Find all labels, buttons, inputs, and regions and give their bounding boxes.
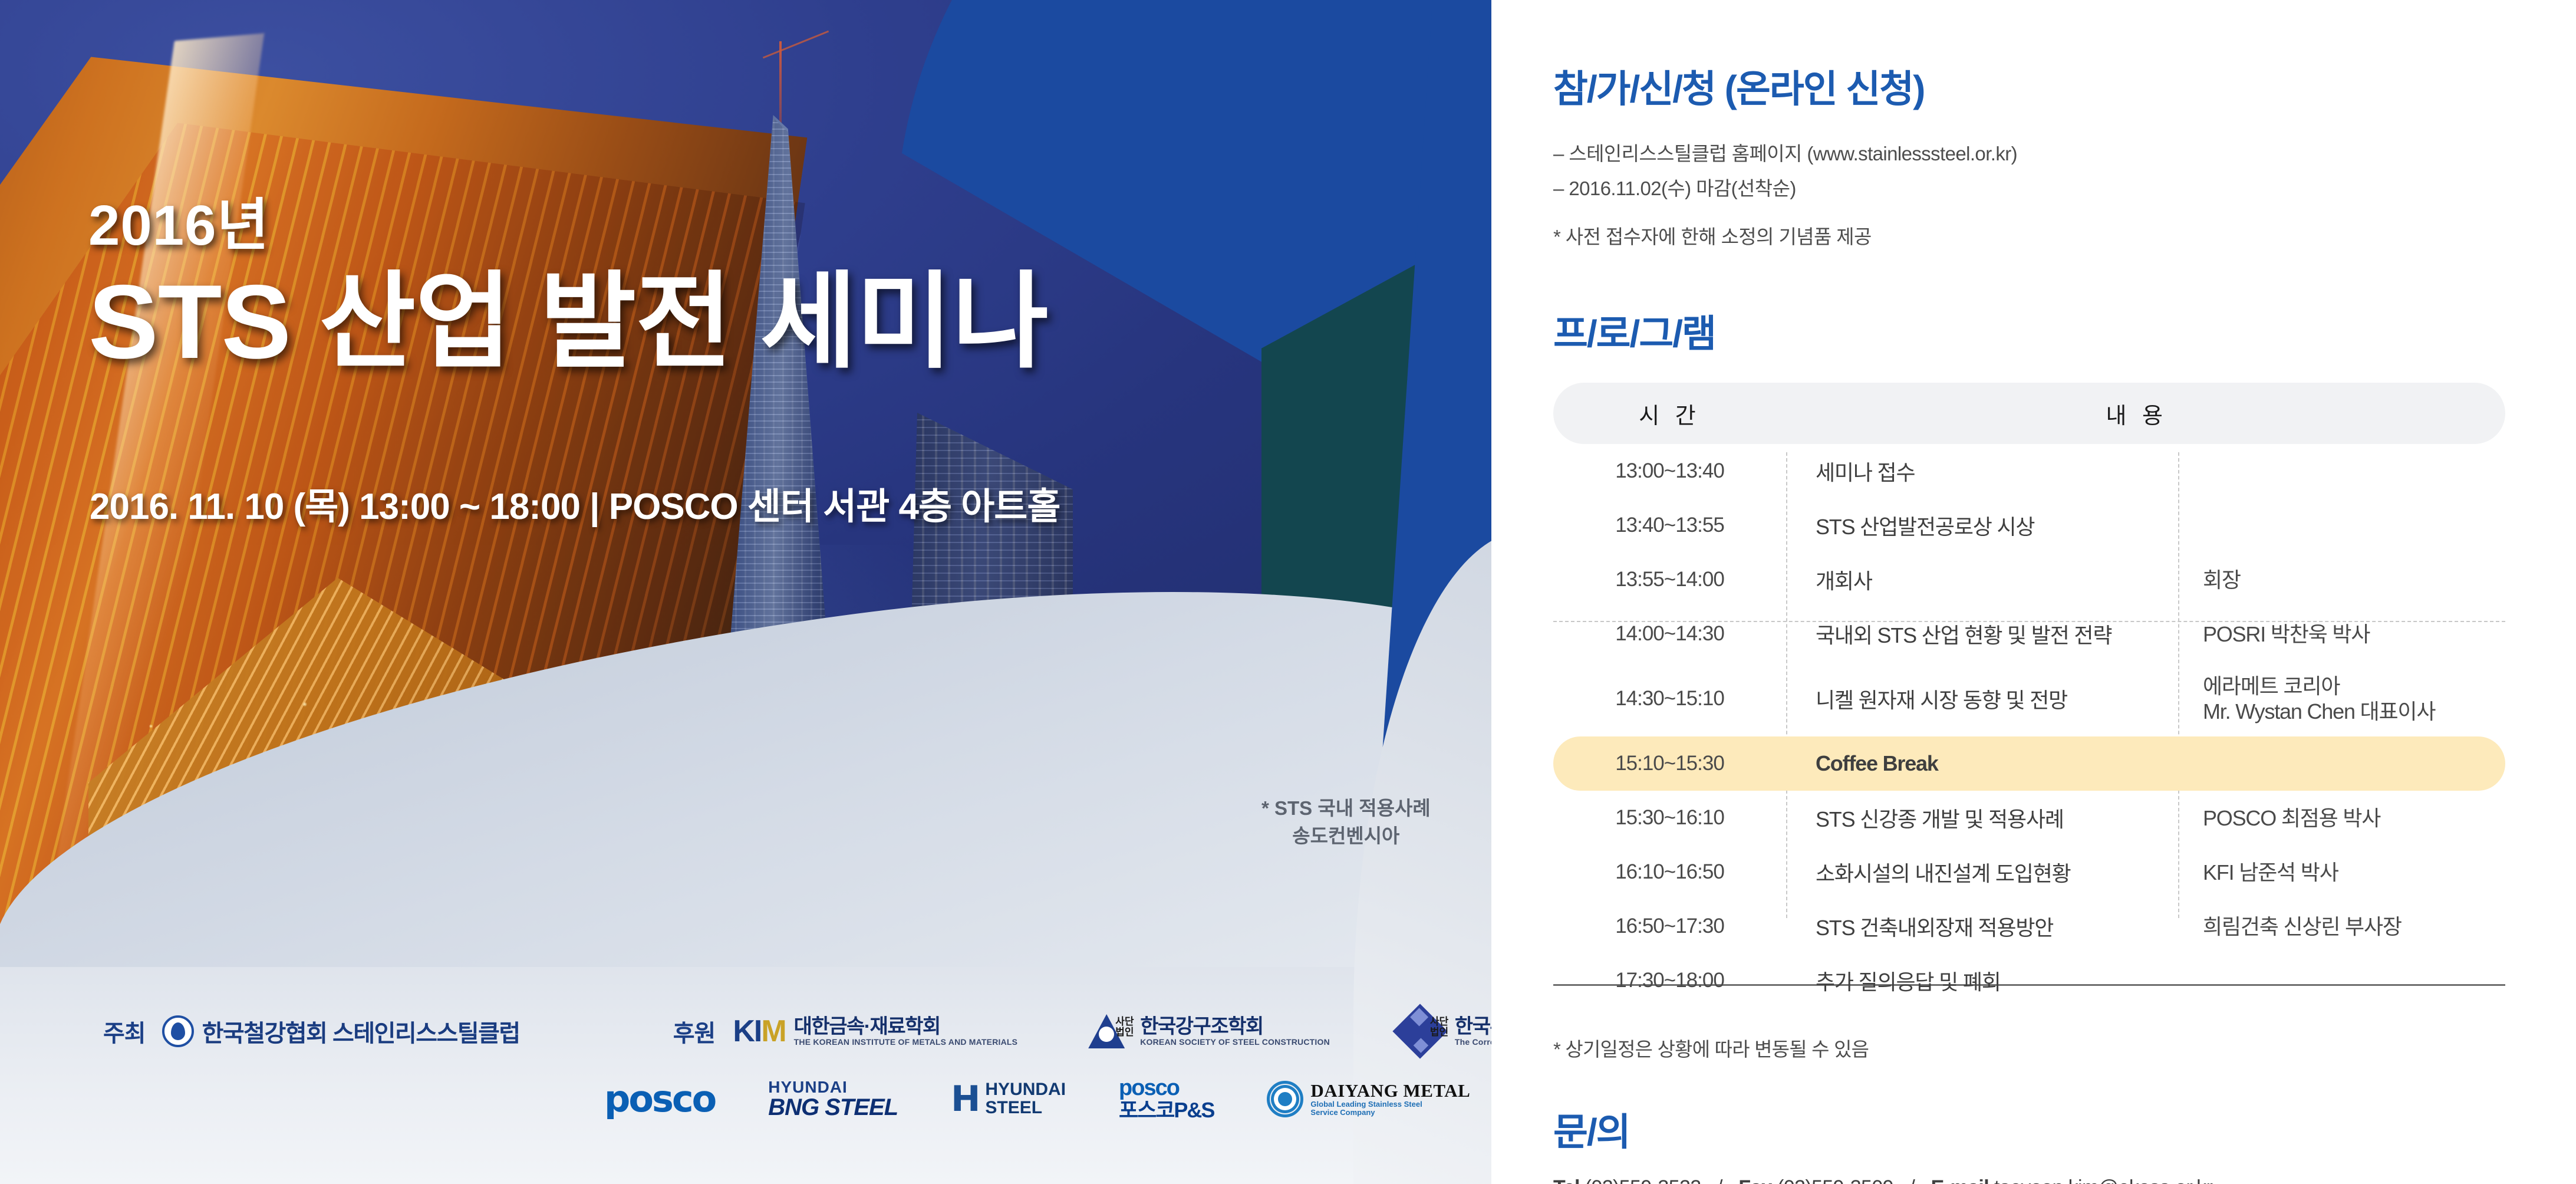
row-topic: 추가 질의응답 및 폐회 — [1786, 965, 2178, 996]
kssc-society-name-en: KOREAN SOCIETY OF STEEL CONSTRUCTION — [1140, 1038, 1330, 1047]
tel-value: (02)559-3522 — [1585, 1176, 1701, 1184]
column-header-time: 시 간 — [1553, 397, 1786, 430]
daiyang-text: DAIYANG METAL Global Leading Stainless S… — [1310, 1081, 1470, 1117]
posco-pns-bottom: 포스코P&S — [1119, 1100, 1214, 1121]
daiyang-target-icon — [1267, 1081, 1303, 1117]
row-topic: 니켈 원자재 시장 동향 및 전망 — [1786, 683, 2178, 714]
corrosion-society-text: 사단 법인 한국부식방식학회 The Corrosion Science Soc… — [1455, 1017, 1491, 1046]
registration-heading: 참/가/신/청 (온라인 신청) — [1553, 59, 2520, 113]
row-time: 15:10~15:30 — [1553, 752, 1786, 775]
row-time: 16:50~17:30 — [1553, 915, 1786, 938]
kim-society-name-en: THE KOREAN INSTITUTE OF METALS AND MATER… — [794, 1038, 1018, 1047]
host-and-society-row: 주최 한국철강협회 스테인리스스틸클럽 후원 KIM 대한금속·재료학회 THE… — [103, 1012, 1491, 1051]
row-topic: 국내외 STS 산업 현황 및 발전 전략 — [1786, 619, 2178, 649]
bng-top-text: HYUNDAI — [768, 1079, 898, 1096]
row-topic: Coffee Break — [1786, 751, 2178, 776]
row-speaker: 에라메트 코리아 Mr. Wystan Chen 대표이사 — [2178, 673, 2505, 725]
table-row: 14:00~14:30국내외 STS 산업 현황 및 발전 전략POSRI 박찬… — [1553, 607, 2505, 661]
email-label: E-mail — [1931, 1176, 1989, 1184]
corrosion-society-logo: 사단 법인 한국부식방식학회 The Corrosion Science Soc… — [1401, 1012, 1491, 1051]
hero-visual-panel: 2016년 STS 산업 발전 세미나 2016. 11. 10 (목) 13:… — [0, 0, 1491, 1184]
contact-separator-1: / — [1706, 1176, 1733, 1184]
hyundai-bng-steel-logo: HYUNDAI BNG STEEL — [768, 1079, 898, 1119]
fax-label: Fax — [1738, 1176, 1772, 1184]
row-time: 15:30~16:10 — [1553, 806, 1786, 830]
row-time: 16:10~16:50 — [1553, 860, 1786, 884]
hero-heading-block: 2016년 STS 산업 발전 세미나 — [88, 195, 1048, 379]
table-row: 16:10~16:50소화시설의 내진설계 도입현황KFI 남준석 박사 — [1553, 845, 2505, 899]
daiyang-metal-logo: DAIYANG METAL Global Leading Stainless S… — [1267, 1081, 1470, 1117]
kssc-society-name-kr: 한국강구조학회 — [1140, 1017, 1330, 1038]
table-row: 15:10~15:30Coffee Break — [1553, 736, 2505, 791]
table-row: 13:00~13:40세미나 접수 — [1553, 444, 2505, 498]
photo-caption: * STS 국내 적용사례 송도컨벤시아 — [1261, 795, 1431, 850]
night-light-points — [83, 660, 937, 1026]
table-row: 13:55~14:00개회사회장 — [1553, 552, 2505, 607]
table-row: 13:40~13:55STS 산업발전공로상 시상 — [1553, 498, 2505, 552]
row-time: 14:00~14:30 — [1553, 622, 1786, 646]
contact-line: Tel (02)559-3522 / Fax (02)559-3509 / E-… — [1553, 1176, 2520, 1184]
photo-caption-line-2: 송도컨벤시아 — [1261, 823, 1431, 850]
incorporated-prefix-label: 사단 법인 — [1115, 1017, 1134, 1038]
program-table: 시 간 내 용 13:00~13:40세미나 접수13:40~13:55STS … — [1553, 383, 2505, 1008]
program-heading: 프/로/그/램 — [1553, 304, 2520, 358]
table-row: 16:50~17:30STS 건축내외장재 적용방안희림건축 신상린 부사장 — [1553, 899, 2505, 953]
incorporated-prefix-label: 사단 법인 — [1430, 1017, 1448, 1038]
row-topic: 소화시설의 내진설계 도입현황 — [1786, 857, 2178, 887]
host-organization-name: 한국철강협회 스테인리스스틸클럽 — [202, 1014, 520, 1048]
daiyang-tagline-1: Global Leading Stainless Steel — [1310, 1100, 1470, 1109]
registration-line-1: – 스테인리스스틸클럽 홈페이지 (www.stainlesssteel.or.… — [1553, 137, 2520, 172]
corrosion-society-name-en: The Corrosion Science Society of Korea — [1455, 1038, 1491, 1047]
column-header-content: 내 용 — [1786, 397, 2178, 430]
construction-crane-mast — [779, 41, 782, 130]
row-time: 14:30~15:10 — [1553, 687, 1786, 711]
row-time: 13:40~13:55 — [1553, 514, 1786, 537]
seminar-poster: 2016년 STS 산업 발전 세미나 2016. 11. 10 (목) 13:… — [0, 0, 2576, 1184]
sponsor-label: 후원 — [673, 1014, 716, 1048]
registration-line-2: – 2016.11.02(수) 마감(선착순) — [1553, 172, 2520, 206]
registration-lines: – 스테인리스스틸클럽 홈페이지 (www.stainlesssteel.or.… — [1553, 137, 2520, 206]
company-logo-row: posco HYUNDAI BNG STEEL H HYUNDAI STEEL — [604, 1077, 1470, 1121]
contact-heading: 문/의 — [1553, 1102, 2520, 1156]
table-body: 13:00~13:40세미나 접수13:40~13:55STS 산업발전공로상 … — [1553, 444, 2505, 1008]
kssc-society-text: 사단 법인 한국강구조학회 KOREAN SOCIETY OF STEEL CO… — [1140, 1017, 1330, 1046]
daiyang-name: DAIYANG METAL — [1310, 1081, 1470, 1101]
daiyang-tagline-2: Service Company — [1310, 1109, 1470, 1117]
fax-value: (02)559-3509 — [1777, 1176, 1893, 1184]
hyundai-steel-h-icon: H — [951, 1085, 980, 1113]
hero-subtitle: 2016. 11. 10 (목) 13:00 ~ 18:00 | POSCO 센… — [90, 476, 1060, 529]
row-topic: STS 신강종 개발 및 적용사례 — [1786, 803, 2178, 833]
program-note: * 상기일정은 상황에 따라 변동될 수 있음 — [1553, 1034, 2520, 1062]
korea-iron-steel-association-icon — [162, 1015, 194, 1047]
hyundai-steel-line-1: HYUNDAI — [985, 1081, 1066, 1099]
posco-pns-logo: posco 포스코P&S — [1119, 1077, 1214, 1121]
table-row: 15:30~16:10STS 신강종 개발 및 적용사례POSCO 최점용 박사 — [1553, 791, 2505, 845]
row-topic: STS 산업발전공로상 시상 — [1786, 510, 2178, 541]
row-topic: 개회사 — [1786, 564, 2178, 595]
row-speaker: 희림건축 신상린 부사장 — [2178, 914, 2505, 940]
tel-label: Tel — [1553, 1176, 1580, 1184]
posco-pns-top: posco — [1119, 1077, 1214, 1100]
page-title: STS 산업 발전 세미나 — [88, 265, 1048, 379]
email-value[interactable]: taeyoon.kim@ekosa.or.kr — [1994, 1176, 2212, 1184]
hyundai-steel-logo: H HYUNDAI STEEL — [951, 1081, 1066, 1117]
info-panel: 참/가/신/청 (온라인 신청) – 스테인리스스틸클럽 홈페이지 (www.s… — [1491, 0, 2576, 1184]
photo-caption-line-1: * STS 국내 적용사례 — [1261, 795, 1431, 823]
row-topic: STS 건축내외장재 적용방안 — [1786, 911, 2178, 942]
row-speaker: KFI 남준석 박사 — [2178, 860, 2505, 886]
kim-mark-icon: KIM — [733, 1014, 785, 1049]
contact-separator-2: / — [1899, 1176, 1926, 1184]
bng-bottom-text: BNG STEEL — [768, 1096, 898, 1119]
row-time: 13:55~14:00 — [1553, 568, 1786, 591]
kim-society-name-kr: 대한금속·재료학회 — [794, 1017, 1018, 1038]
row-time: 13:00~13:40 — [1553, 459, 1786, 483]
hero-year: 2016년 — [88, 195, 1048, 257]
row-speaker: 회장 — [2178, 567, 2505, 593]
kim-society-logo: KIM 대한금속·재료학회 THE KOREAN INSTITUTE OF ME… — [733, 1014, 1017, 1049]
kim-society-text: 대한금속·재료학회 THE KOREAN INSTITUTE OF METALS… — [794, 1017, 1018, 1046]
corrosion-society-name-kr: 한국부식방식학회 — [1455, 1017, 1491, 1038]
kssc-society-logo: 사단 법인 한국강구조학회 KOREAN SOCIETY OF STEEL CO… — [1088, 1014, 1330, 1048]
hyundai-steel-line-2: STEEL — [985, 1099, 1066, 1117]
row-speaker: POSCO 최점용 박사 — [2178, 805, 2505, 831]
hyundai-steel-text: HYUNDAI STEEL — [985, 1081, 1066, 1117]
row-topic: 세미나 접수 — [1786, 456, 2178, 486]
table-row: 14:30~15:10니켈 원자재 시장 동향 및 전망에라메트 코리아 Mr.… — [1553, 661, 2505, 736]
row-speaker: POSRI 박찬욱 박사 — [2178, 621, 2505, 647]
registration-note: * 사전 접수자에 한해 소정의 기념품 제공 — [1553, 221, 2520, 249]
posco-logo: posco — [604, 1077, 715, 1120]
sponsor-logo-strip: 주최 한국철강협회 스테인리스스틸클럽 후원 KIM 대한금속·재료학회 THE… — [0, 989, 1491, 1184]
row-time: 17:30~18:00 — [1553, 969, 1786, 992]
host-label: 주최 — [103, 1014, 146, 1048]
table-row: 17:30~18:00추가 질의응답 및 폐회 — [1553, 953, 2505, 1008]
table-header-row: 시 간 내 용 — [1553, 383, 2505, 444]
